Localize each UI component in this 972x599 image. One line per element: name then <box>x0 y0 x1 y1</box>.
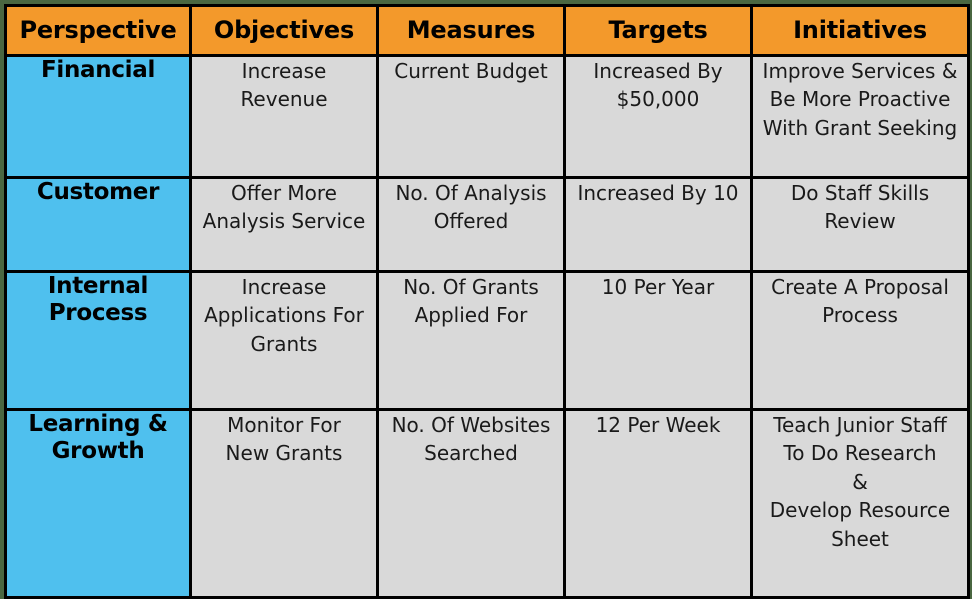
cell-objectives-financial: Increase Revenue <box>191 56 378 178</box>
cell-perspective-financial: Financial <box>6 56 191 178</box>
cell-targets-customer: Increased By 10 <box>565 178 752 272</box>
column-header-targets: Targets <box>565 6 752 56</box>
cell-objectives-learning-growth: Monitor For New Grants <box>191 410 378 598</box>
measures-text: No. Of Analysis Offered <box>379 179 563 236</box>
measures-text: Current Budget <box>379 57 563 85</box>
cell-measures-financial: Current Budget <box>378 56 565 178</box>
cell-objectives-customer: Offer More Analysis Service <box>191 178 378 272</box>
table-row: Customer Offer More Analysis Service No.… <box>6 178 969 272</box>
cell-targets-learning-growth: 12 Per Week <box>565 410 752 598</box>
cell-initiatives-financial: Improve Services & Be More Proactive Wit… <box>752 56 969 178</box>
targets-text: 12 Per Week <box>566 411 750 439</box>
cell-measures-customer: No. Of Analysis Offered <box>378 178 565 272</box>
objectives-text: Increase Applications For Grants <box>192 273 376 358</box>
cell-targets-internal-process: 10 Per Year <box>565 272 752 410</box>
perspective-label: Learning & Growth <box>7 411 189 465</box>
cell-perspective-learning-growth: Learning & Growth <box>6 410 191 598</box>
measures-text: No. Of Websites Searched <box>379 411 563 468</box>
cell-perspective-customer: Customer <box>6 178 191 272</box>
targets-text: Increased By $50,000 <box>566 57 750 114</box>
table-header-row: Perspective Objectives Measures Targets … <box>6 6 969 56</box>
initiatives-text: Do Staff Skills Review <box>753 179 967 236</box>
cell-initiatives-internal-process: Create A Proposal Process <box>752 272 969 410</box>
column-header-measures: Measures <box>378 6 565 56</box>
table-row: Internal Process Increase Applications F… <box>6 272 969 410</box>
perspective-label: Customer <box>7 179 189 206</box>
initiatives-text: Teach Junior Staff To Do Research & Deve… <box>753 411 967 553</box>
cell-initiatives-learning-growth: Teach Junior Staff To Do Research & Deve… <box>752 410 969 598</box>
cell-measures-internal-process: No. Of Grants Applied For <box>378 272 565 410</box>
table-row: Financial Increase Revenue Current Budge… <box>6 56 969 178</box>
objectives-text: Offer More Analysis Service <box>192 179 376 236</box>
column-header-perspective: Perspective <box>6 6 191 56</box>
column-header-objectives: Objectives <box>191 6 378 56</box>
objectives-text: Monitor For New Grants <box>192 411 376 468</box>
cell-objectives-internal-process: Increase Applications For Grants <box>191 272 378 410</box>
cell-initiatives-customer: Do Staff Skills Review <box>752 178 969 272</box>
scorecard-frame: Perspective Objectives Measures Targets … <box>0 0 972 587</box>
targets-text: 10 Per Year <box>566 273 750 301</box>
targets-text: Increased By 10 <box>566 179 750 207</box>
objectives-text: Increase Revenue <box>192 57 376 114</box>
measures-text: No. Of Grants Applied For <box>379 273 563 330</box>
cell-measures-learning-growth: No. Of Websites Searched <box>378 410 565 598</box>
initiatives-text: Improve Services & Be More Proactive Wit… <box>753 57 967 142</box>
perspective-label: Financial <box>7 57 189 84</box>
perspective-label: Internal Process <box>7 273 189 327</box>
balanced-scorecard-table: Perspective Objectives Measures Targets … <box>4 4 970 599</box>
cell-targets-financial: Increased By $50,000 <box>565 56 752 178</box>
table-row: Learning & Growth Monitor For New Grants… <box>6 410 969 598</box>
initiatives-text: Create A Proposal Process <box>753 273 967 330</box>
cell-perspective-internal-process: Internal Process <box>6 272 191 410</box>
column-header-initiatives: Initiatives <box>752 6 969 56</box>
